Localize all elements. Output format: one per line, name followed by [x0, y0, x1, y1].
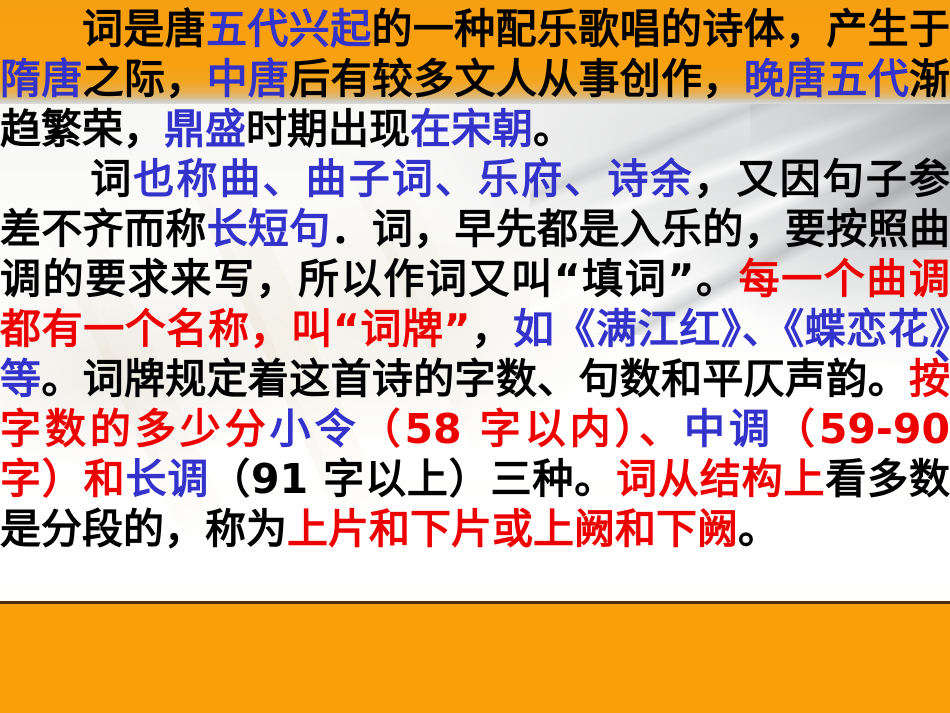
text-run-blue-5: 中唐: [207, 55, 290, 103]
text-run-blue-9: 鼎盛: [164, 105, 246, 153]
text-run-blue-12: 中调: [684, 405, 774, 453]
text-run-black-6: 后有较多文人从事创作，: [289, 55, 744, 103]
paragraph-names: 词也称曲、曲子词、乐府、诗余，又因句子参差不齐而称长短句．词，早先都是入乐的，要…: [0, 154, 950, 554]
text-run-blue-10: 小令: [270, 405, 360, 453]
text-run-blue-14: 长调: [126, 455, 210, 503]
bottom-orange-band: [0, 601, 950, 713]
text-run-blue-7: 晚唐五代: [744, 55, 909, 103]
bottom-band-rule: [0, 601, 950, 604]
text-run-blue-1: 五代兴起: [206, 5, 371, 53]
text-run-red-16: 词从结构上: [616, 455, 825, 503]
text-run-blue-3: 隋唐: [0, 55, 83, 103]
text-run-black-2: 的一种配乐歌唱的诗体，产生于: [371, 5, 950, 53]
text-run-black-4: 之际，: [83, 55, 207, 103]
text-run-black-0: 词: [90, 155, 133, 203]
text-run-black-19: 。: [738, 505, 779, 553]
text-run-red-18: 上片和下片或上阙和下阙: [287, 505, 738, 553]
text-run-blue-3: 长短句: [207, 205, 331, 253]
text-run-red-11: （58 字以内）、: [360, 405, 684, 453]
paragraph-origin: 词是唐五代兴起的一种配乐歌唱的诗体，产生于隋唐之际，中唐后有较多文人从事创作，晚…: [0, 4, 950, 154]
text-run-black-12: 。: [533, 105, 574, 153]
text-run-black-0: 词是唐: [82, 5, 206, 53]
text-run-black-15: （91 字以上）三种。: [209, 455, 616, 503]
slide-canvas: 词是唐五代兴起的一种配乐歌唱的诗体，产生于隋唐之际，中唐后有较多文人从事创作，晚…: [0, 0, 950, 713]
edge-cutoff-mark: 、: [934, 325, 950, 366]
text-run-blue-11: 在宋朝: [410, 105, 533, 153]
text-run-black-8: 。词牌规定着这首诗的字数、句数和平仄声韵。: [41, 355, 909, 403]
text-run-black-6: ，: [471, 305, 513, 353]
text-run-blue-1: 也称曲、曲子词、乐府、诗余: [133, 155, 693, 203]
text-run-black-10: 时期出现: [246, 105, 410, 153]
slide-body-text: 词是唐五代兴起的一种配乐歌唱的诗体，产生于隋唐之际，中唐后有较多文人从事创作，晚…: [0, 0, 950, 554]
